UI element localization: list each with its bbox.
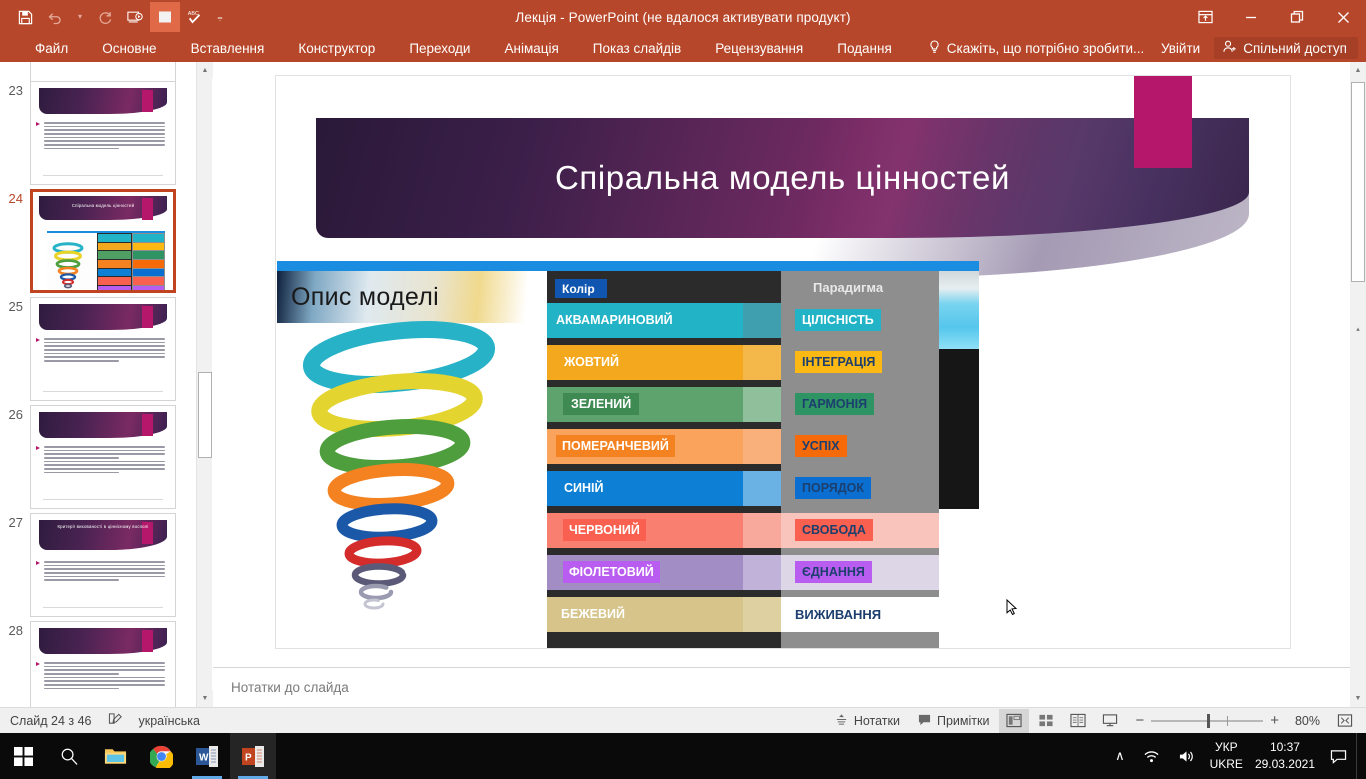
window-controls: [1182, 0, 1366, 34]
thumbnail-row-26[interactable]: 26: [0, 405, 196, 509]
sign-in-button[interactable]: Увійти: [1151, 41, 1210, 56]
view-reading-button[interactable]: [1063, 709, 1093, 733]
column-header-paradigm: Парадигма: [813, 280, 883, 295]
system-tray: ∧ УКР UKRE 10:37 29.03.2021: [1106, 733, 1366, 779]
row-color-label-7: БЕЖЕВИЙ: [561, 603, 625, 625]
row-paradigm-label-5: СВОБОДА: [795, 519, 873, 541]
share-button[interactable]: Спільний доступ: [1214, 37, 1358, 59]
thumb-title: Спіральна модель цінностей: [43, 203, 163, 208]
picture-body: Опис моделі: [277, 271, 979, 648]
thumb-accent-block: [142, 198, 153, 220]
thumb-banner: [39, 628, 167, 654]
thumb-text-lines: [44, 662, 165, 692]
comments-toggle-button[interactable]: Примітки: [910, 709, 997, 733]
slide-thumbnail-25[interactable]: [30, 297, 176, 401]
slide-picture[interactable]: Опис моделі: [277, 261, 979, 648]
taskbar: W P ∧ УКР UKRE 10:37 29.03.2021: [0, 733, 1366, 779]
thumbnail-row-28[interactable]: 28: [0, 621, 196, 707]
spiral-icon: [51, 239, 85, 293]
thumb-banner: [39, 88, 167, 114]
mouse-cursor-icon: [1006, 599, 1018, 617]
comment-icon: [918, 713, 931, 729]
picture-light-inset: [939, 509, 979, 648]
status-bar: Слайд 24 з 46 українська Нотатки Примітк…: [0, 707, 1366, 733]
spiral-graphic-icon: [281, 319, 547, 648]
search-icon[interactable]: [46, 733, 92, 779]
clock-date: 29.03.2021: [1255, 756, 1315, 773]
thumb-accent-block: [142, 306, 153, 328]
file-explorer-icon[interactable]: [92, 733, 138, 779]
row-paradigm-label-6: ЄДНАННЯ: [795, 561, 872, 583]
undo-icon[interactable]: [40, 2, 70, 32]
row-paradigm-label-1: ІНТЕГРАЦІЯ: [795, 351, 882, 373]
action-center-icon[interactable]: [1321, 749, 1356, 764]
slide-title[interactable]: Спіральна модель цінностей: [316, 118, 1249, 238]
tab-insert[interactable]: Вставлення: [174, 34, 282, 62]
svg-text:W: W: [199, 752, 209, 763]
language-indicator[interactable]: українська: [139, 714, 200, 728]
scroll-down-arrow-icon[interactable]: ▼: [1350, 690, 1366, 707]
thumbnail-row-23[interactable]: 23: [0, 81, 196, 185]
picture-photo-inset: [939, 271, 979, 349]
thumb-banner: [39, 304, 167, 330]
svg-text:P: P: [245, 752, 252, 763]
thumbnail-scrollbar[interactable]: ▲ ▼: [196, 62, 212, 707]
close-icon[interactable]: [1320, 0, 1366, 34]
zoom-slider[interactable]: [1151, 720, 1263, 722]
word-icon[interactable]: W: [184, 733, 230, 779]
thumb-bullet-icon: [36, 122, 40, 126]
slide-thumbnail-28[interactable]: [30, 621, 176, 707]
network-icon[interactable]: [1134, 749, 1169, 764]
row-color-label-1: ЖОВТИЙ: [564, 351, 619, 373]
scroll-down-arrow-icon[interactable]: ▼: [197, 690, 213, 707]
spelling-icon[interactable]: ABC: [180, 2, 210, 32]
row-paradigm-label-0: ЦІЛІСНІСТЬ: [795, 309, 881, 331]
tab-home[interactable]: Основне: [85, 34, 173, 62]
thumbnail-number: 28: [0, 621, 30, 707]
comments-button-label: Примітки: [937, 714, 989, 728]
ribbon-right-actions: Увійти Спільний доступ: [1151, 34, 1358, 62]
notes-icon: [835, 713, 848, 729]
row-color-label-5: ЧЕРВОНИЙ: [563, 519, 646, 541]
thumb-text-lines: [44, 338, 165, 364]
thumbnail-row-24[interactable]: 24 Спіральна модель цінностей: [0, 189, 196, 293]
start-from-beginning-icon[interactable]: [120, 2, 150, 32]
thumb-picture: [47, 231, 165, 293]
status-right: Нотатки Примітки − + 80%: [827, 709, 1360, 733]
language-line-1: УКР: [1210, 739, 1243, 756]
row-color-label-0: АКВАМАРИНОВИЙ: [556, 309, 673, 331]
slide-counter[interactable]: Слайд 24 з 46: [10, 714, 92, 728]
zoom-percentage[interactable]: 80%: [1286, 714, 1320, 728]
proofing-icon[interactable]: [108, 712, 123, 729]
scrollbar-thumb[interactable]: [1351, 82, 1365, 282]
clock[interactable]: 10:37 29.03.2021: [1249, 739, 1321, 774]
notes-toggle-button[interactable]: Нотатки: [827, 709, 908, 733]
current-slide[interactable]: Спіральна модель цінностей Опис моделі: [276, 76, 1290, 648]
thumb-banner: [39, 412, 167, 438]
picture-color-column: Колір АКВАМАРИНОВИЙ ЖОВТИЙ ЗЕЛЕНИЙ ПОМЕР…: [547, 271, 743, 648]
thumbnail-number: 23: [0, 81, 30, 185]
thumbnail-row-25[interactable]: 25: [0, 297, 196, 401]
tell-me-box[interactable]: Скажіть, що потрібно зробити...: [909, 40, 1145, 57]
row-paradigm-label-7: ВИЖИВАННЯ: [795, 603, 881, 625]
status-left: Слайд 24 з 46 українська: [0, 712, 200, 729]
volume-icon[interactable]: [1169, 749, 1204, 764]
column-header-color: Колір: [555, 279, 607, 298]
tab-design[interactable]: Конструктор: [281, 34, 392, 62]
customize-qat-icon[interactable]: ⩦: [210, 2, 230, 32]
ribbon-tabs: Файл Основне Вставлення Конструктор Пере…: [18, 34, 1144, 62]
notes-placeholder: Нотатки до слайда: [231, 680, 349, 695]
workspace: 23 24 Спіральна модель цінностей: [0, 62, 1366, 707]
picture-arrow-column: [743, 271, 781, 648]
zoom-out-button[interactable]: −: [1135, 712, 1144, 729]
slide-thumbnail-23[interactable]: [30, 81, 176, 185]
tell-me-label: Скажіть, що потрібно зробити...: [947, 41, 1145, 56]
thumb-accent-block: [142, 90, 153, 112]
row-paradigm-label-2: ГАРМОНІЯ: [795, 393, 874, 415]
minimize-icon[interactable]: [1228, 0, 1274, 34]
chrome-icon[interactable]: [138, 733, 184, 779]
zoom-control[interactable]: − + 80%: [1127, 712, 1328, 729]
chevron-down-icon[interactable]: ▾: [70, 2, 90, 32]
picture-left-column: Опис моделі: [277, 271, 547, 648]
thumb-text-lines: [44, 446, 165, 476]
thumb-bullet-icon: [36, 338, 40, 342]
slide-thumbnail-26[interactable]: [30, 405, 176, 509]
title-bar: ▾ ABC ⩦ Лекція - PowerPoint (не вдалося …: [0, 0, 1366, 34]
quick-access-toolbar: ▾ ABC ⩦: [10, 0, 230, 34]
row-paradigm-label-3: УСПІХ: [795, 435, 847, 457]
zoom-slider-thumb[interactable]: [1207, 714, 1210, 728]
ribbon-tab-strip: Файл Основне Вставлення Конструктор Пере…: [0, 34, 1366, 62]
picture-dark-inset: [939, 349, 979, 509]
picture-top-bar: [277, 261, 979, 271]
person-add-icon: [1223, 40, 1237, 56]
thumb-text-lines: [44, 122, 165, 152]
slide-canvas-area[interactable]: Спіральна модель цінностей Опис моделі: [213, 62, 1350, 667]
thumbnail-number: 26: [0, 405, 30, 509]
slide-area-scrollbar[interactable]: ▲ ▴ ▼: [1350, 62, 1366, 707]
lightbulb-icon: [929, 40, 940, 57]
row-color-label-3: ПОМЕРАНЧЕВИЙ: [556, 435, 675, 457]
new-slide-icon[interactable]: [150, 2, 180, 32]
redo-icon[interactable]: [90, 2, 120, 32]
notes-button-label: Нотатки: [854, 714, 900, 728]
save-icon[interactable]: [10, 2, 40, 32]
zoom-in-button[interactable]: +: [1270, 712, 1279, 729]
slide-thumbnail-27[interactable]: Критерії вихованості в ціннісному воспол…: [30, 513, 176, 617]
row-color-label-4: СИНІЙ: [564, 477, 604, 499]
clock-time: 10:37: [1255, 739, 1315, 756]
thumb-bullet-icon: [36, 446, 40, 450]
powerpoint-icon[interactable]: P: [230, 733, 276, 779]
start-button[interactable]: [0, 733, 46, 779]
scrollbar-thumb[interactable]: [198, 372, 212, 458]
tab-view[interactable]: Подання: [820, 34, 909, 62]
thumb-text-lines: [44, 561, 165, 583]
zoom-slider-midpoint: [1227, 716, 1228, 726]
row-paradigm-label-4: ПОРЯДОК: [795, 477, 871, 499]
view-normal-button[interactable]: [999, 709, 1029, 733]
language-line-2: UKRE: [1210, 756, 1243, 773]
view-slideshow-button[interactable]: [1095, 709, 1125, 733]
scroll-split-icon[interactable]: ▴: [1350, 320, 1366, 337]
thumb-bullet-icon: [36, 561, 40, 565]
ribbon-display-options-icon[interactable]: [1182, 0, 1228, 34]
language-tray-indicator[interactable]: УКР UKRE: [1204, 739, 1249, 774]
slide-thumbnail-pane[interactable]: 23 24 Спіральна модель цінностей: [0, 62, 196, 707]
thumb-accent-block: [142, 630, 153, 652]
scroll-up-arrow-icon[interactable]: ▲: [197, 62, 213, 79]
thumbnail-number: 25: [0, 297, 30, 401]
thumb-accent-block: [142, 414, 153, 436]
thumbnail-number: 24: [0, 189, 30, 293]
fit-to-window-icon[interactable]: [1330, 709, 1360, 733]
tab-review[interactable]: Рецензування: [698, 34, 820, 62]
slide-thumbnail-24[interactable]: Спіральна модель цінностей: [30, 189, 176, 293]
scroll-up-arrow-icon[interactable]: ▲: [1350, 62, 1366, 79]
thumb-title: Критерії вихованості в ціннісному воспол…: [41, 524, 165, 529]
view-slide-sorter-button[interactable]: [1031, 709, 1061, 733]
thumb-bullet-icon: [36, 662, 40, 666]
share-label: Спільний доступ: [1243, 41, 1347, 56]
picture-caption: Опис моделі: [277, 271, 547, 323]
thumbnail-number: 27: [0, 513, 30, 617]
show-desktop-button[interactable]: [1356, 733, 1366, 779]
restore-icon[interactable]: [1274, 0, 1320, 34]
tab-animations[interactable]: Анімація: [487, 34, 575, 62]
row-color-label-2: ЗЕЛЕНИЙ: [563, 393, 639, 415]
thumbnail-row-27[interactable]: 27 Критерії вихованості в ціннісному вос…: [0, 513, 196, 617]
notes-pane[interactable]: Нотатки до слайда: [213, 667, 1350, 707]
tab-transitions[interactable]: Переходи: [392, 34, 487, 62]
row-color-label-6: ФІОЛЕТОВИЙ: [563, 561, 660, 583]
tab-file[interactable]: Файл: [18, 34, 85, 62]
tab-slideshow[interactable]: Показ слайдів: [576, 34, 698, 62]
show-hidden-icons-button[interactable]: ∧: [1106, 748, 1134, 764]
